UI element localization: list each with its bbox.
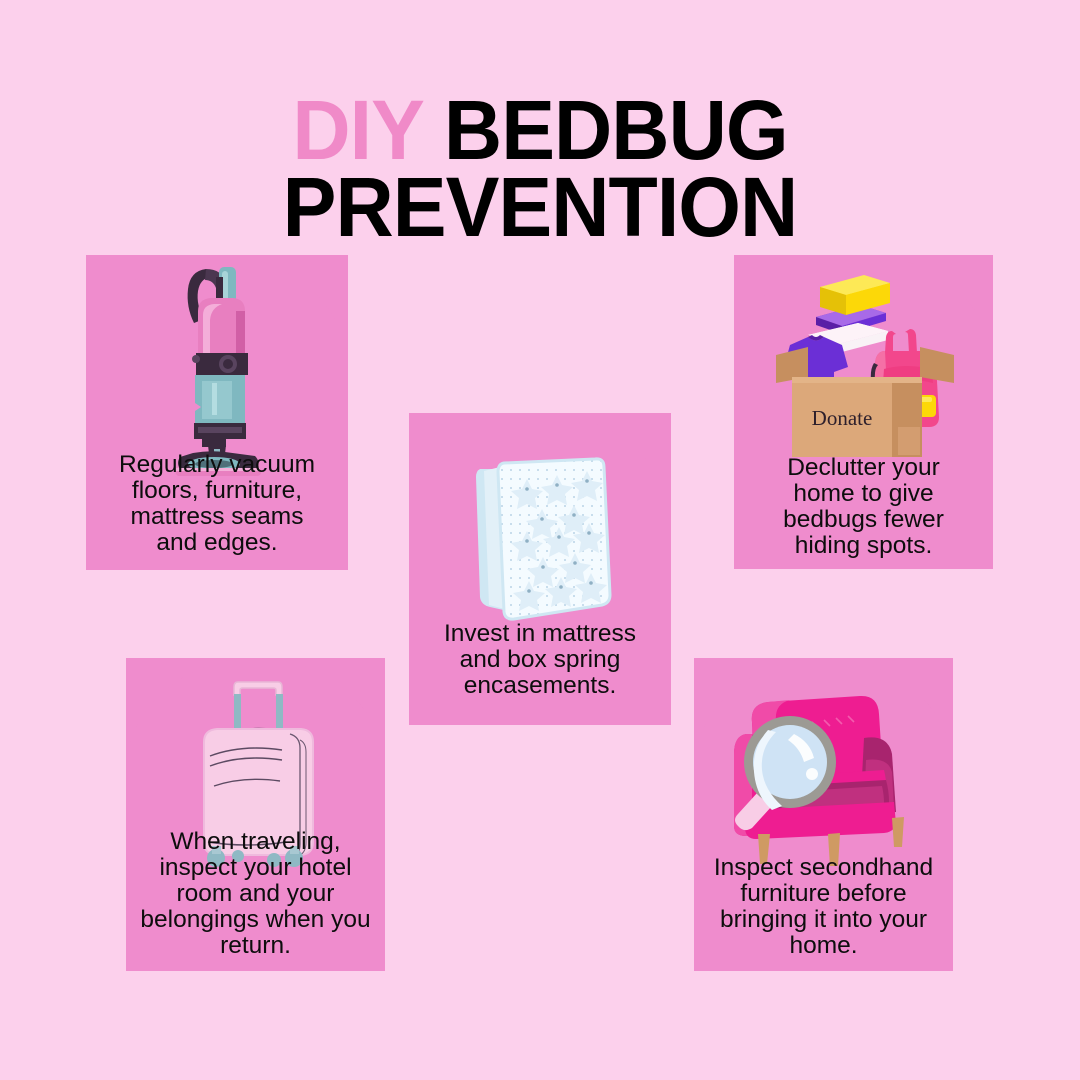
tip-card-luggage: When traveling, inspect your hotel room … [126,658,385,971]
tip-card-mattress: Invest in mattress and box spring encase… [409,413,671,725]
page-title: DIY BEDBUG PREVENTION [0,92,1080,247]
card-caption-mattress: Invest in mattress and box spring encase… [375,621,705,699]
card-caption-furniture: Inspect secondhand furniture before brin… [649,855,999,959]
card-caption-vacuum: Regularly vacuum floors, furniture, matt… [52,452,382,556]
title-line-1: DIY BEDBUG [22,92,1059,169]
card-caption-luggage: When traveling, inspect your hotel room … [71,829,441,959]
title-line-2: PREVENTION [22,169,1059,246]
tip-card-vacuum: Regularly vacuum floors, furniture, matt… [86,255,348,570]
card-caption-declutter: Declutter your home to give bedbugs fewe… [699,455,1029,559]
tip-card-furniture: Inspect secondhand furniture before brin… [694,658,953,971]
tip-card-declutter: Donate Declutter your home to give bedbu… [734,255,993,569]
